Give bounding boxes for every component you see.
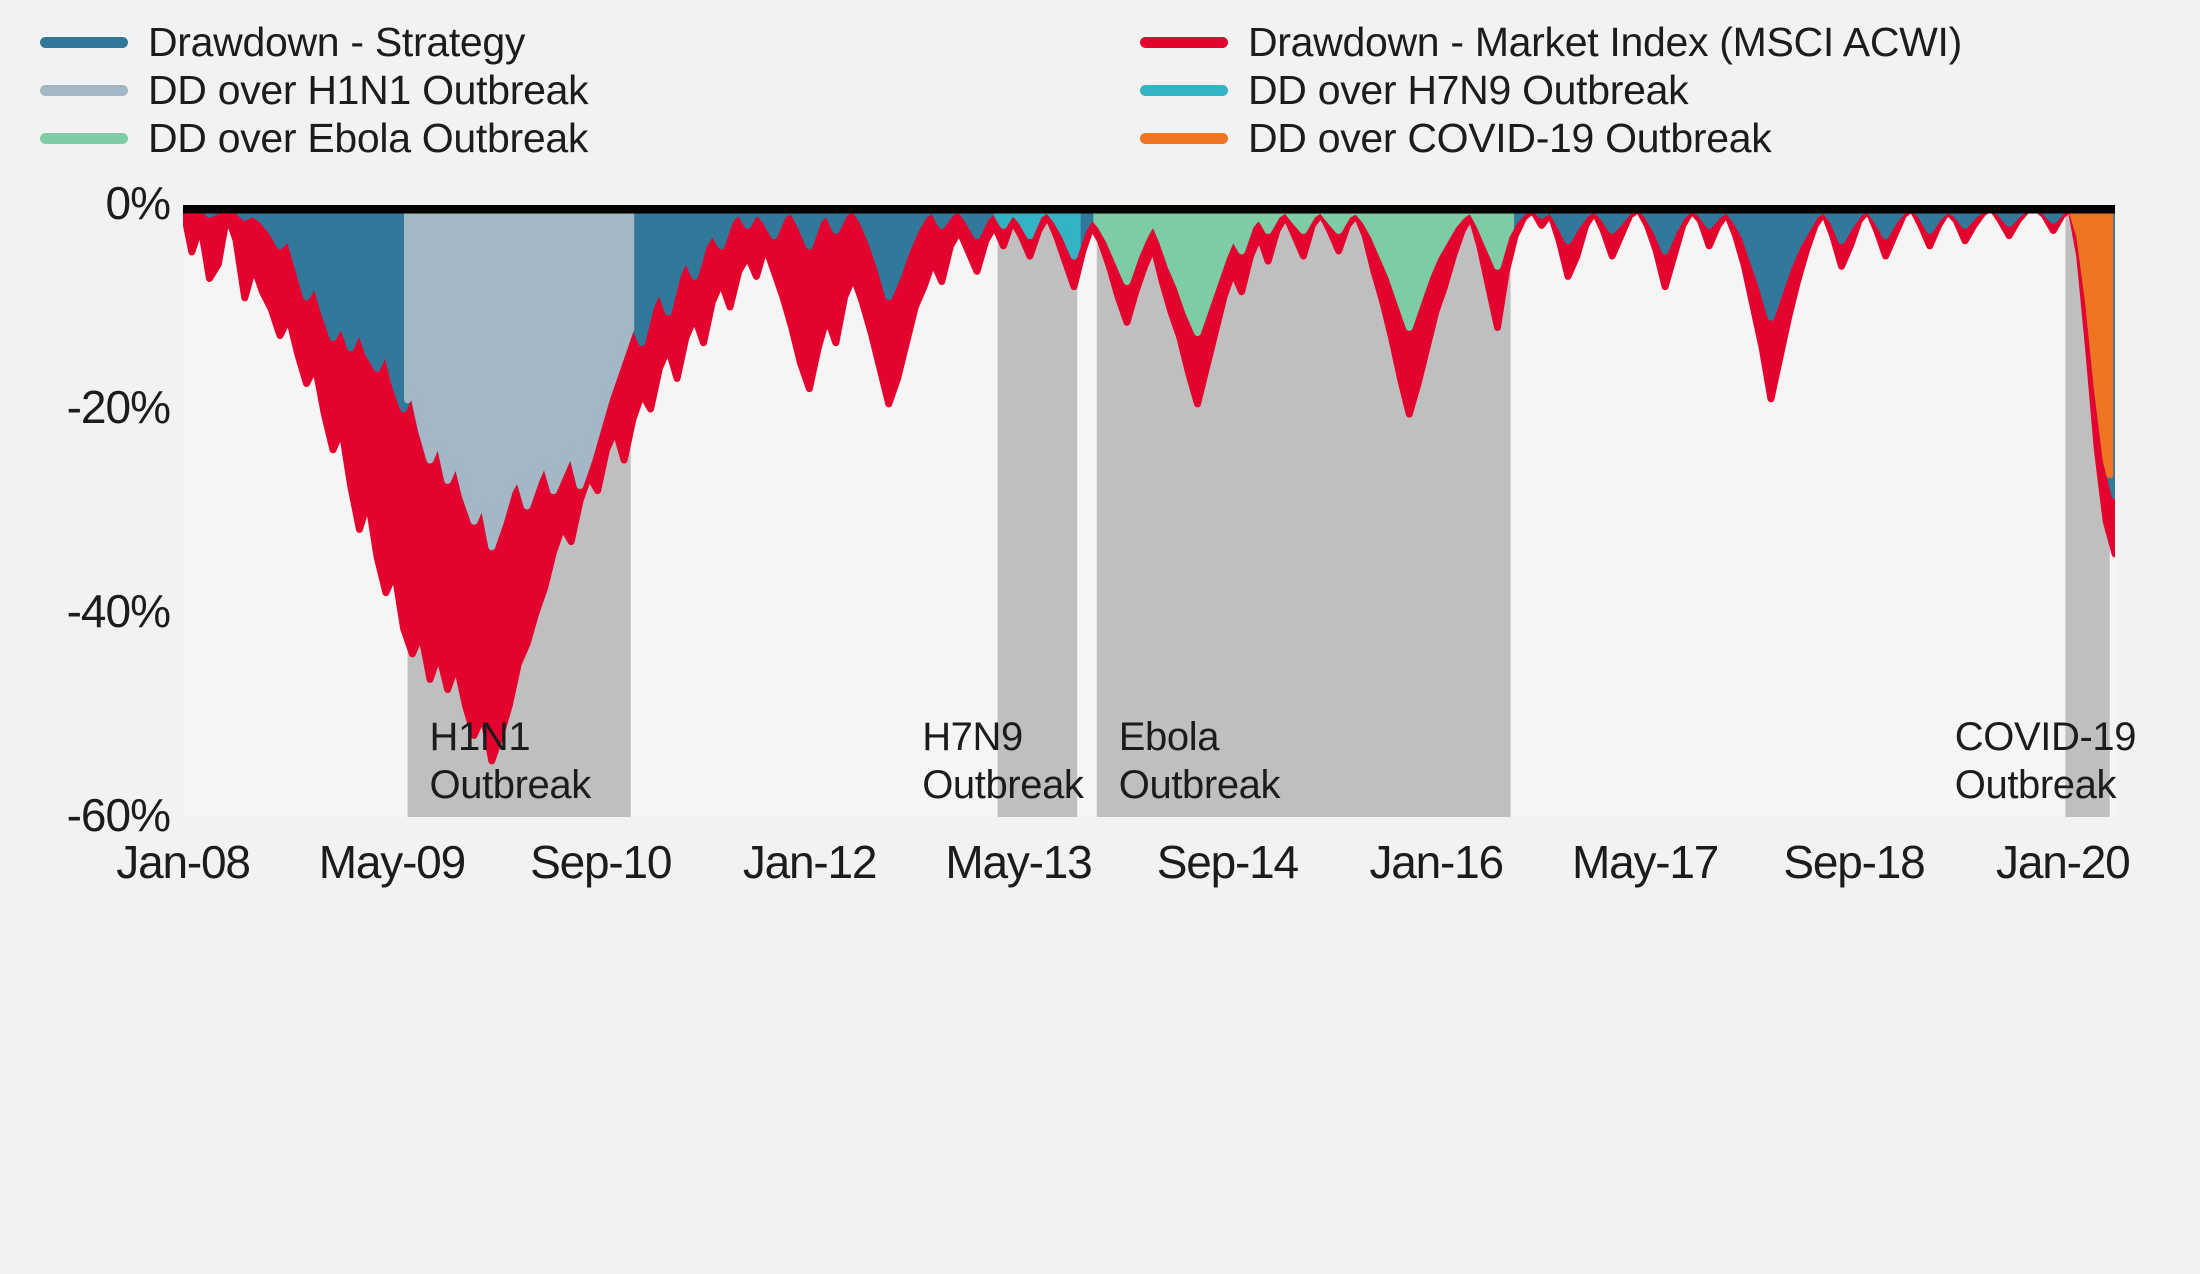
outbreak-band-ebola [1097,205,1511,817]
legend-label-market-index: Drawdown - Market Index (MSCI ACWI) [1248,22,1962,63]
legend-swatch-strategy [40,37,128,48]
y-axis-tick-label: 0% [10,180,170,226]
legend-column-left: Drawdown - Strategy DD over H1N1 Outbrea… [40,18,588,162]
x-axis-tick-label: Sep-10 [530,835,671,889]
legend-label-strategy: Drawdown - Strategy [148,22,525,63]
legend-swatch-ebola [40,133,128,144]
x-axis-tick-label: May-09 [319,835,465,889]
legend-swatch-covid19 [1140,133,1228,144]
y-axis-tick-label: -20% [10,384,170,430]
legend-swatch-h1n1 [40,85,128,96]
chart-legend: Drawdown - Strategy DD over H1N1 Outbrea… [0,0,2200,185]
x-axis-tick-label: May-13 [945,835,1091,889]
legend-swatch-h7n9 [1140,85,1228,96]
legend-item-covid19: DD over COVID-19 Outbreak [1140,114,1962,162]
y-axis-tick-label: -60% [10,792,170,838]
x-axis-tick-label: Sep-18 [1783,835,1924,889]
legend-label-h7n9: DD over H7N9 Outbreak [1248,70,1688,111]
legend-item-h1n1: DD over H1N1 Outbreak [40,66,588,114]
legend-label-ebola: DD over Ebola Outbreak [148,118,588,159]
x-axis: Jan-08May-09Sep-10Jan-12May-13Sep-14Jan-… [0,835,2200,925]
legend-item-market-index: Drawdown - Market Index (MSCI ACWI) [1140,18,1962,66]
legend-item-ebola: DD over Ebola Outbreak [40,114,588,162]
x-axis-tick-label: Jan-16 [1369,835,1502,889]
plot-svg [183,205,2115,817]
y-axis-tick-label: -40% [10,588,170,634]
x-axis-tick-label: Jan-20 [1996,835,2129,889]
x-axis-tick-label: May-17 [1572,835,1718,889]
x-axis-tick-label: Jan-12 [743,835,876,889]
legend-swatch-market-index [1140,37,1228,48]
plot-area [183,205,2115,817]
legend-label-covid19: DD over COVID-19 Outbreak [1248,118,1771,159]
legend-item-strategy: Drawdown - Strategy [40,18,588,66]
y-axis: 0%-20%-40%-60% [0,185,170,1274]
x-axis-tick-label: Jan-08 [116,835,249,889]
legend-label-h1n1: DD over H1N1 Outbreak [148,70,588,111]
x-axis-tick-label: Sep-14 [1157,835,1298,889]
outbreak-band-h7n9 [998,205,1078,817]
drawdown-chart: 0%-20%-40%-60% Jan-08May-09Sep-10Jan-12M… [0,185,2200,1274]
legend-item-h7n9: DD over H7N9 Outbreak [1140,66,1962,114]
legend-column-right: Drawdown - Market Index (MSCI ACWI) DD o… [1140,18,1962,162]
